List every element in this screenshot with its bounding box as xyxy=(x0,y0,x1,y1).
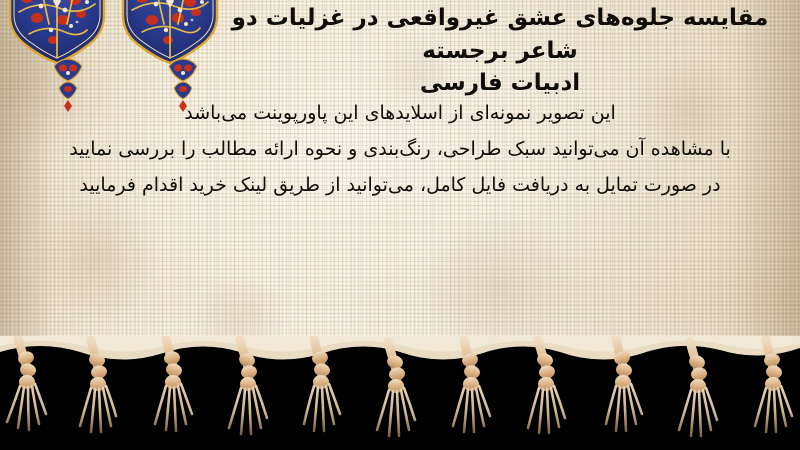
carpet-fringe xyxy=(0,336,800,450)
slide-title-line-1: مقایسه جلوه‌های عشق غیرواقعی در غزلیات د… xyxy=(220,2,780,67)
body-line-2: با مشاهده آن می‌توانید سبک طراحی، رنگ‌بن… xyxy=(24,140,776,159)
slide-text-layer: مقایسه جلوه‌های عشق غیرواقعی در غزلیات د… xyxy=(0,0,800,368)
slide-body: این تصویر نمونه‌ای از اسلایدهای این پاور… xyxy=(24,104,776,212)
slide-title-line-2: ادبیات فارسی xyxy=(220,67,780,100)
body-line-3: در صورت تمایل به دریافت فایل کامل، می‌تو… xyxy=(24,176,776,195)
carpet-fringe-svg xyxy=(0,336,800,450)
body-line-1: این تصویر نمونه‌ای از اسلایدهای این پاور… xyxy=(24,104,776,123)
slide-title: مقایسه جلوه‌های عشق غیرواقعی در غزلیات د… xyxy=(220,2,780,100)
presentation-slide: مقایسه جلوه‌های عشق غیرواقعی در غزلیات د… xyxy=(0,0,800,450)
